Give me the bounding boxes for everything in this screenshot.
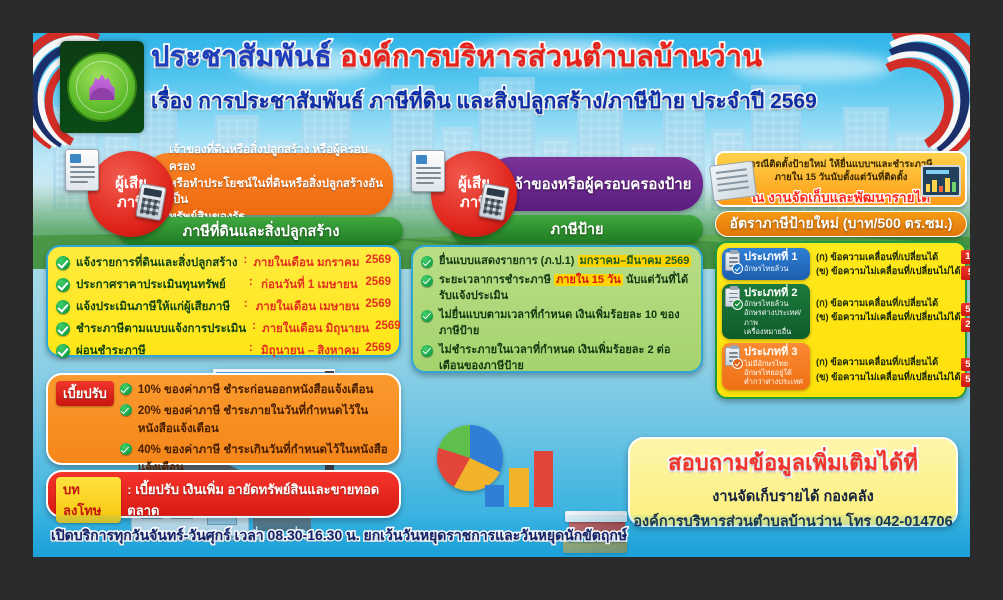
clipboard-check-icon: [725, 252, 740, 271]
rate-type-3-sub-0: ไม่มีอักษรไทย: [744, 359, 806, 368]
schedule-row: ชำระภาษีตามแบบแจ้งการประเมิน : ภายในเดือ…: [56, 320, 391, 338]
page-title-part2: องค์การบริหารส่วนตำบลบ้านว่าน: [340, 41, 762, 73]
schedule-row: แจ้งรายการที่ดินและสิ่งปลูกสร้าง : ภายใน…: [56, 254, 391, 272]
fine-tag: เบี้ยปรับ: [56, 381, 114, 406]
punishment-panel: บทลงโทษ : เบี้ยปรับ เงินเพิ่ม อายัดทรัพย…: [46, 470, 401, 518]
rate-type-2-lines: (ก) ข้อความเคลื่อนที่/เปลี่ยนได้ (ข) ข้อ…: [810, 284, 961, 340]
schedule-year-1: 2569: [365, 276, 391, 288]
new-sign-notice-box: กรณีติดตั้งป้ายใหม่ ให้ยื่นแบบฯและชำระภา…: [715, 151, 967, 207]
poster: ประชาสัมพันธ์ องค์การบริหารส่วนตำบลบ้านว…: [33, 33, 970, 557]
rate-type-1-lines: (ก) ข้อความเคลื่อนที่/เปลี่ยนได้ (ข) ข้อ…: [810, 248, 961, 280]
rate-type-1-values: 10 5: [961, 248, 970, 280]
page-title: ประชาสัมพันธ์ องค์การบริหารส่วนตำบลบ้านว…: [151, 42, 911, 74]
rate-type-3-box: ประเภทที่ 3 ไม่มีอักษรไทย อักษรไทยอยู่ใต…: [722, 343, 810, 389]
sign-taxpayer-description-pill: เจ้าของหรือผู้ครอบครองป้าย: [485, 157, 703, 211]
fine-item-0: 10% ของค่าภาษี ชำระก่อนออกหนังสือแจ้งเตื…: [138, 381, 374, 399]
rate-type-3-sub-2: ต่ำกว่าต่างประเทศ: [744, 377, 806, 386]
check-icon: [56, 344, 70, 358]
sign-item-row: ไม่ยื่นแบบตามเวลาที่กำหนด เงินเพิ่มร้อยล…: [421, 308, 693, 340]
header: ประชาสัมพันธ์ องค์การบริหารส่วนตำบลบ้านว…: [33, 33, 970, 141]
schedule-period-0: ภายในเดือน มกราคม: [253, 254, 359, 272]
schedule-sep-0: :: [244, 254, 248, 266]
check-icon: [120, 383, 132, 395]
contact-box: สอบถามข้อมูลเพิ่มเติมได้ที่ งานจัดเก็บรา…: [628, 437, 958, 527]
sign-tax-detail-panel: ยื่นแบบแสดงรายการ (ภ.ป.1) มกราคม–มีนาคม …: [411, 245, 703, 373]
check-icon: [56, 256, 70, 270]
penalty-panel: เบี้ยปรับ 10% ของค่าภาษี ชำระก่อนออกหนัง…: [46, 373, 401, 465]
chart-monitor-icon: [921, 165, 961, 197]
rate-type-1-line-0: (ก) ข้อความเคลื่อนที่/เปลี่ยนได้: [816, 250, 961, 264]
schedule-row: แจ้งประเมินภาษีให้แก่ผู้เสียภาษี : ภายใน…: [56, 298, 391, 316]
rate-type-2-line-0: (ก) ข้อความเคลื่อนที่/เปลี่ยนได้: [816, 296, 961, 310]
rate-type-2-line-1: (ข) ข้อความไม่เคลื่อนที่/เปลี่ยนไม่ได้: [816, 310, 961, 324]
schedule-label-4: ผ่อนชำระภาษี: [76, 342, 243, 360]
footer-hours-bar: เปิดบริการทุกวันจันทร์-วันศุกร์ เวลา 08.…: [33, 515, 970, 557]
rate-row: ประเภทที่ 1 อักษรไทยล้วน (ก) ข้อความเคลื…: [722, 248, 960, 280]
rate-type-1-title: ประเภทที่ 1: [744, 251, 806, 264]
rate-type-3-line-0: (ก) ข้อความเคลื่อนที่/เปลี่ยนได้: [816, 355, 961, 369]
check-icon: [421, 345, 433, 357]
sign-item-row: ไม่ชำระภายในเวลาที่กำหนด เงินเพิ่มร้อยละ…: [421, 343, 693, 375]
schedule-sep-4: :: [249, 342, 255, 354]
check-icon: [56, 322, 70, 336]
rate-row: ประเภทที่ 3 ไม่มีอักษรไทย อักษรไทยอยู่ใต…: [722, 343, 960, 389]
sign-item-0: ยื่นแบบแสดงรายการ (ภ.ป.1) มกราคม–มีนาคม …: [439, 254, 691, 270]
check-icon: [421, 256, 433, 268]
rate-type-2-values: 52 26: [961, 284, 970, 340]
land-tax-schedule-panel: แจ้งรายการที่ดินและสิ่งปลูกสร้าง : ภายใน…: [46, 245, 401, 357]
document-icon: [411, 150, 445, 192]
rate-type-2-sub-2: เครื่องหมายอื่น: [744, 327, 806, 336]
temple-glyph-icon: [87, 74, 117, 100]
check-icon: [56, 278, 70, 292]
sign-item-0-pre: ยื่นแบบแสดงรายการ (ภ.ป.1): [439, 255, 578, 267]
land-tax-type-label: ภาษีที่ดินและสิ่งปลูกสร้าง: [183, 220, 340, 243]
schedule-sep-3: :: [252, 320, 256, 332]
document-icon: [65, 149, 99, 191]
schedule-label-2: แจ้งประเมินภาษีให้แก่ผู้เสียภาษี: [76, 298, 238, 316]
contact-line1: งานจัดเก็บรายได้ กองคลัง: [630, 485, 956, 508]
check-icon: [56, 300, 70, 314]
page-title-part1: ประชาสัมพันธ์: [151, 41, 340, 73]
sign-tax-type-label: ภาษีป้าย: [550, 218, 603, 241]
schedule-year-2: 2569: [365, 298, 391, 310]
land-taxpayer-description-pill: เจ้าของที่ดินหรือสิ่งปลูกสร้าง หรือผู้คร…: [143, 153, 393, 215]
footer-text: เปิดบริการทุกวันจันทร์-วันศุกร์ เวลา 08.…: [51, 525, 627, 547]
rate-type-1-line-1: (ข) ข้อความไม่เคลื่อนที่/เปลี่ยนไม่ได้: [816, 264, 961, 278]
rate-type-3-lines: (ก) ข้อความเคลื่อนที่/เปลี่ยนได้ (ข) ข้อ…: [810, 343, 961, 389]
rate-type-2-value-1: 26: [961, 318, 970, 332]
sign-rate-table-title: อัตราภาษีป้ายใหม่ (บาท/500 ตร.ซม.): [715, 211, 967, 237]
schedule-year-3: 2569: [375, 320, 401, 332]
rate-type-3-sub-1: อักษรไทยอยู่ใต้: [744, 368, 806, 377]
municipal-emblem-logo: [60, 41, 144, 133]
rate-type-2-title: ประเภทที่ 2: [744, 287, 806, 300]
schedule-period-4: มิถุนายน – สิงหาคม: [261, 342, 359, 360]
rate-type-3-line-1: (ข) ข้อความไม่เคลื่อนที่/เปลี่ยนไม่ได้: [816, 370, 961, 384]
schedule-sep-1: :: [249, 276, 255, 288]
sign-rate-table: ประเภทที่ 1 อักษรไทยล้วน (ก) ข้อความเคลื…: [715, 241, 967, 399]
schedule-year-4: 2569: [365, 342, 391, 354]
sign-payer-desc: เจ้าของหรือผู้ครอบครองป้าย: [509, 172, 691, 196]
land-payer-desc-line2: หรือทำประโยชน์ในที่ดินหรือสิ่งปลูกสร้างอ…: [169, 176, 385, 209]
schedule-row: ประกาศราคาประเมินทุนทรัพย์ : ก่อนวันที่ …: [56, 276, 391, 294]
rate-type-2-value-0: 52: [961, 303, 970, 317]
sign-item-2: ไม่ยื่นแบบตามเวลาที่กำหนด เงินเพิ่มร้อยล…: [439, 308, 693, 340]
schedule-period-2: ภายในเดือน เมษายน: [256, 298, 360, 316]
rate-type-1-box: ประเภทที่ 1 อักษรไทยล้วน: [722, 248, 810, 280]
schedule-label-3: ชำระภาษีตามแบบแจ้งการประเมิน: [76, 320, 246, 338]
schedule-sep-2: :: [244, 298, 250, 310]
fine-item-1: 20% ของค่าภาษี ชำระภายในวันที่กำหนดไว้ใน…: [138, 402, 391, 438]
schedule-row: ผ่อนชำระภาษี : มิถุนายน – สิงหาคม 2569: [56, 342, 391, 360]
check-icon: [421, 310, 433, 322]
rate-type-3-value-0: 52: [961, 358, 970, 372]
sign-item-row: ระยะเวลาการชำระภาษี ภายใน 15 วัน นับแต่ว…: [421, 273, 693, 305]
check-icon: [120, 443, 132, 455]
sign-item-1: ระยะเวลาการชำระภาษี ภายใน 15 วัน นับแต่ว…: [439, 273, 693, 305]
sign-item-1-highlight: ภายใน 15 วัน: [554, 274, 623, 286]
schedule-label-1: ประกาศราคาประเมินทุนทรัพย์: [76, 276, 243, 294]
rate-type-1-value-0: 10: [961, 250, 970, 264]
pen-document-icon: [709, 160, 757, 201]
sign-item-1-pre: ระยะเวลาการชำระภาษี: [439, 274, 554, 286]
rate-type-1-value-1: 5: [961, 266, 970, 280]
contact-heading: สอบถามข้อมูลเพิ่มเติมได้ที่: [630, 445, 956, 480]
rate-type-1-sub-0: อักษรไทยล้วน: [744, 264, 806, 273]
bar-chart-decoration: [485, 451, 553, 507]
clipboard-check-icon: [725, 347, 740, 366]
schedule-label-0: แจ้งรายการที่ดินและสิ่งปลูกสร้าง: [76, 254, 238, 272]
fine-row: 10% ของค่าภาษี ชำระก่อนออกหนังสือแจ้งเตื…: [120, 381, 391, 399]
rate-type-2-sub-0: อักษรไทยล้วน: [744, 299, 806, 308]
check-icon: [421, 275, 433, 287]
rate-type-2-sub-1: อักษรต่างประเทศ/ภาพ: [744, 308, 806, 327]
page-subtitle: เรื่อง การประชาสัมพันธ์ ภาษีที่ดิน และสิ…: [151, 85, 931, 118]
schedule-period-1: ก่อนวันที่ 1 เมษายน: [261, 276, 359, 294]
sign-item-3: ไม่ชำระภายในเวลาที่กำหนด เงินเพิ่มร้อยละ…: [439, 343, 693, 375]
land-payer-desc-line1: เจ้าของที่ดินหรือสิ่งปลูกสร้าง หรือผู้คร…: [169, 142, 385, 175]
emblem-disc: [67, 52, 137, 122]
rate-type-3-values: 52 50: [961, 343, 970, 389]
fine-row: 20% ของค่าภาษี ชำระภายในวันที่กำหนดไว้ใน…: [120, 402, 391, 438]
rate-type-3-value-1: 50: [961, 373, 970, 387]
sign-item-0-highlight: มกราคม–มีนาคม 2569: [578, 255, 692, 267]
rate-row: ประเภทที่ 2 อักษรไทยล้วน อักษรต่างประเทศ…: [722, 284, 960, 340]
check-icon: [120, 404, 132, 416]
rate-type-3-title: ประเภทที่ 3: [744, 346, 806, 359]
schedule-year-0: 2569: [365, 254, 391, 266]
schedule-period-3: ภายในเดือน มิถุนายน: [262, 320, 369, 338]
rate-type-2-box: ประเภทที่ 2 อักษรไทยล้วน อักษรต่างประเทศ…: [722, 284, 810, 340]
sign-item-row: ยื่นแบบแสดงรายการ (ภ.ป.1) มกราคม–มีนาคม …: [421, 254, 693, 270]
clipboard-check-icon: [725, 288, 740, 307]
screenshot-canvas: ประชาสัมพันธ์ องค์การบริหารส่วนตำบลบ้านว…: [0, 0, 1003, 600]
